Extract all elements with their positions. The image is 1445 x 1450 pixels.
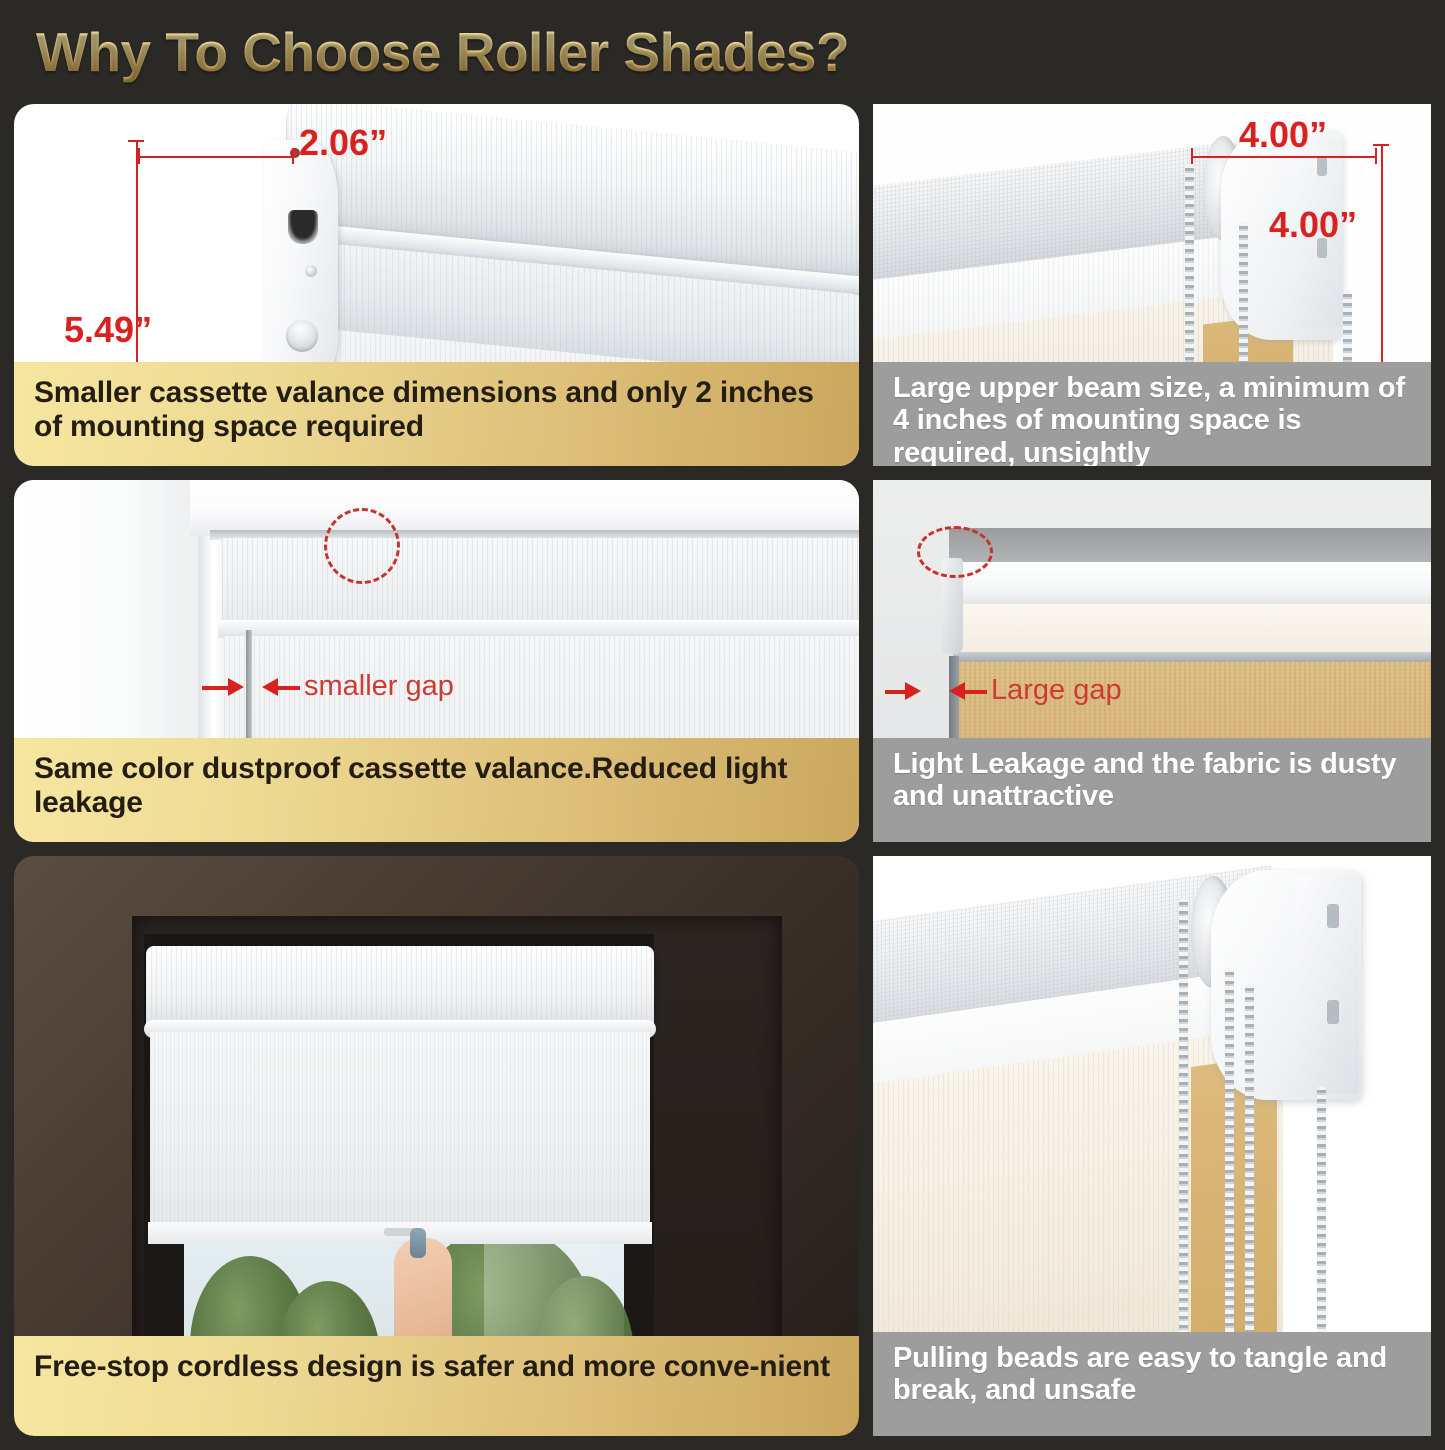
panel-cassette-valance-dimensions[interactable]: 5.49” 2.06” Smaller cassette valance dim… (14, 104, 859, 466)
width-dimension-label: 4.00” (1239, 114, 1327, 156)
detail-highlight-circle (917, 526, 993, 578)
height-dimension-label: 4.00” (1269, 204, 1357, 246)
height-dimension-tick-top (128, 140, 144, 142)
width-dimension-line (1191, 156, 1377, 158)
gap-callout-label: smaller gap (304, 670, 454, 703)
height-dimension-tick-top (1373, 144, 1389, 146)
gap-arrow-right-stem (965, 690, 987, 694)
endcap-knob (286, 320, 318, 352)
gap-arrow-right-head-icon (949, 682, 965, 700)
header-bar: Why To Choose Roller Shades? (0, 0, 1445, 104)
bracket-hole-icon (1327, 1000, 1339, 1024)
panel-large-upper-beam[interactable]: 4.00” 4.00” Large upper beam size, a min… (873, 104, 1431, 466)
gap-callout-label: Large gap (991, 674, 1122, 707)
panel-caption: Light Leakage and the fabric is dusty an… (873, 738, 1431, 842)
width-dimension-tick-right (292, 148, 294, 164)
panel-caption: Free-stop cordless design is safer and m… (14, 1336, 859, 1436)
width-dimension-tick-right (1375, 148, 1377, 164)
endcap-screw-icon (305, 265, 317, 277)
panel-pulling-beads-tangle-hazard[interactable]: Pulling beads are easy to tangle and bre… (873, 856, 1431, 1436)
gap-arrow-left-head-icon (905, 682, 921, 700)
comparison-row-1: 5.49” 2.06” Smaller cassette valance dim… (14, 104, 1431, 466)
shade-fabric-cream (953, 604, 1431, 658)
shade-fabric (150, 1032, 650, 1232)
valance-white-bar (943, 562, 1431, 610)
height-dimension-line (1381, 144, 1383, 380)
panel-dustproof-cassette-valance[interactable]: smaller gap Same color dustproof cassett… (14, 480, 859, 842)
gap-arrow-left-head-icon (228, 678, 244, 696)
bracket-hole-icon (1317, 156, 1327, 176)
page-title: Why To Choose Roller Shades? (36, 20, 849, 84)
gap-arrow-right-head-icon (262, 678, 278, 696)
height-dimension-label: 5.49” (64, 309, 152, 351)
width-dimension-tick-left (1191, 148, 1193, 164)
comparison-grid: 5.49” 2.06” Smaller cassette valance dim… (0, 104, 1445, 1450)
panel-caption: Pulling beads are easy to tangle and bre… (873, 1332, 1431, 1436)
bracket-hole-icon (1327, 904, 1339, 928)
panel-light-leakage-dusty-fabric[interactable]: Large gap Light Leakage and the fabric i… (873, 480, 1431, 842)
panel-caption: Smaller cassette valance dimensions and … (14, 362, 859, 466)
detail-highlight-circle (324, 508, 400, 584)
width-dimension-tick-left (138, 148, 140, 164)
comparison-row-2: smaller gap Same color dustproof cassett… (14, 480, 1431, 842)
cassette-valance (146, 946, 654, 1030)
window-jamb-left (14, 480, 200, 738)
panel-caption: Large upper beam size, a minimum of 4 in… (873, 362, 1431, 466)
panel-free-stop-cordless-design[interactable]: Free-stop cordless design is safer and m… (14, 856, 859, 1436)
width-dimension-line (138, 156, 294, 158)
endcap-slot (288, 210, 318, 244)
comparison-row-3: Free-stop cordless design is safer and m… (14, 856, 1431, 1436)
gap-arrow-right-stem (278, 686, 300, 690)
valance-end-cap (264, 140, 338, 375)
cassette-valance-band (222, 538, 859, 624)
gap-arrow-left-stem (202, 686, 230, 690)
panel-caption: Same color dustproof cassette valance.Re… (14, 738, 859, 842)
hand-grip-on-tab (410, 1228, 426, 1258)
window-head-casing (190, 480, 859, 536)
width-dimension-label: 2.06” (299, 122, 387, 164)
gap-arrow-left-stem (885, 690, 907, 694)
